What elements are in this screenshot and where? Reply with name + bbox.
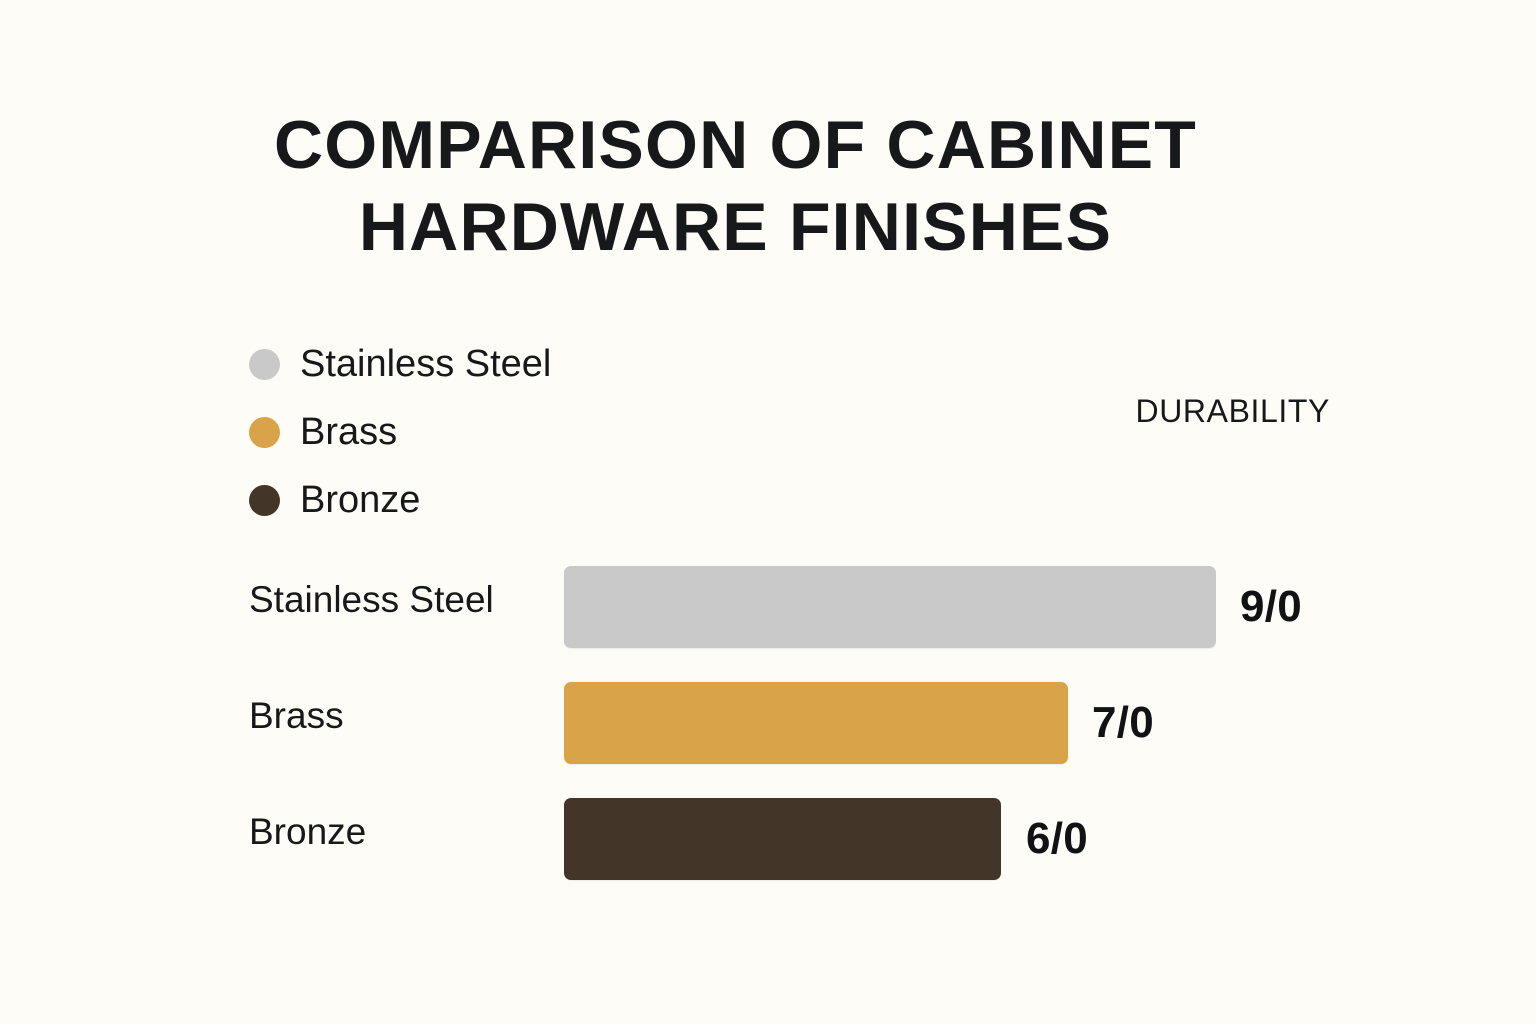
legend-swatch-bronze-icon — [249, 485, 280, 516]
legend-swatch-brass-icon — [249, 417, 280, 448]
bar-track-brass — [564, 682, 1364, 764]
bar-category-label-bronze: Bronze — [249, 784, 544, 880]
bar-chart: Stainless Steel 9/0 Brass 7/0 Bronze 6/0 — [0, 552, 1536, 900]
bar-value-bronze: 6/0 — [1026, 798, 1088, 880]
page-title-line-2: HARDWARE FINISHES — [248, 186, 1223, 268]
legend-item-bronze: Bronze — [249, 466, 551, 534]
bar-category-label-brass: Brass — [249, 668, 544, 764]
bar-category-label-stainless-steel: Stainless Steel — [249, 552, 544, 648]
metric-caption: DURABILITY — [1136, 392, 1330, 430]
bar-value-stainless-steel: 9/0 — [1240, 566, 1302, 648]
bar-value-brass: 7/0 — [1092, 682, 1154, 764]
legend-item-stainless-steel: Stainless Steel — [249, 330, 551, 398]
page-title: COMPARISON OF CABINET HARDWARE FINISHES — [248, 104, 1223, 268]
legend-label-brass: Brass — [300, 412, 397, 452]
bar-fill-stainless-steel — [564, 566, 1216, 648]
bar-fill-brass — [564, 682, 1068, 764]
page-title-line-1: COMPARISON OF CABINET — [248, 104, 1223, 186]
bar-track-bronze — [564, 798, 1364, 880]
legend-label-bronze: Bronze — [300, 480, 420, 520]
chart-legend: Stainless Steel Brass Bronze — [249, 330, 551, 534]
bar-row-bronze: Bronze 6/0 — [0, 784, 1536, 900]
bar-fill-bronze — [564, 798, 1001, 880]
legend-label-stainless-steel: Stainless Steel — [300, 344, 551, 384]
infographic-canvas: COMPARISON OF CABINET HARDWARE FINISHES … — [0, 0, 1536, 1024]
legend-swatch-stainless-steel-icon — [249, 349, 280, 380]
bar-row-stainless-steel: Stainless Steel 9/0 — [0, 552, 1536, 668]
legend-item-brass: Brass — [249, 398, 551, 466]
bar-row-brass: Brass 7/0 — [0, 668, 1536, 784]
